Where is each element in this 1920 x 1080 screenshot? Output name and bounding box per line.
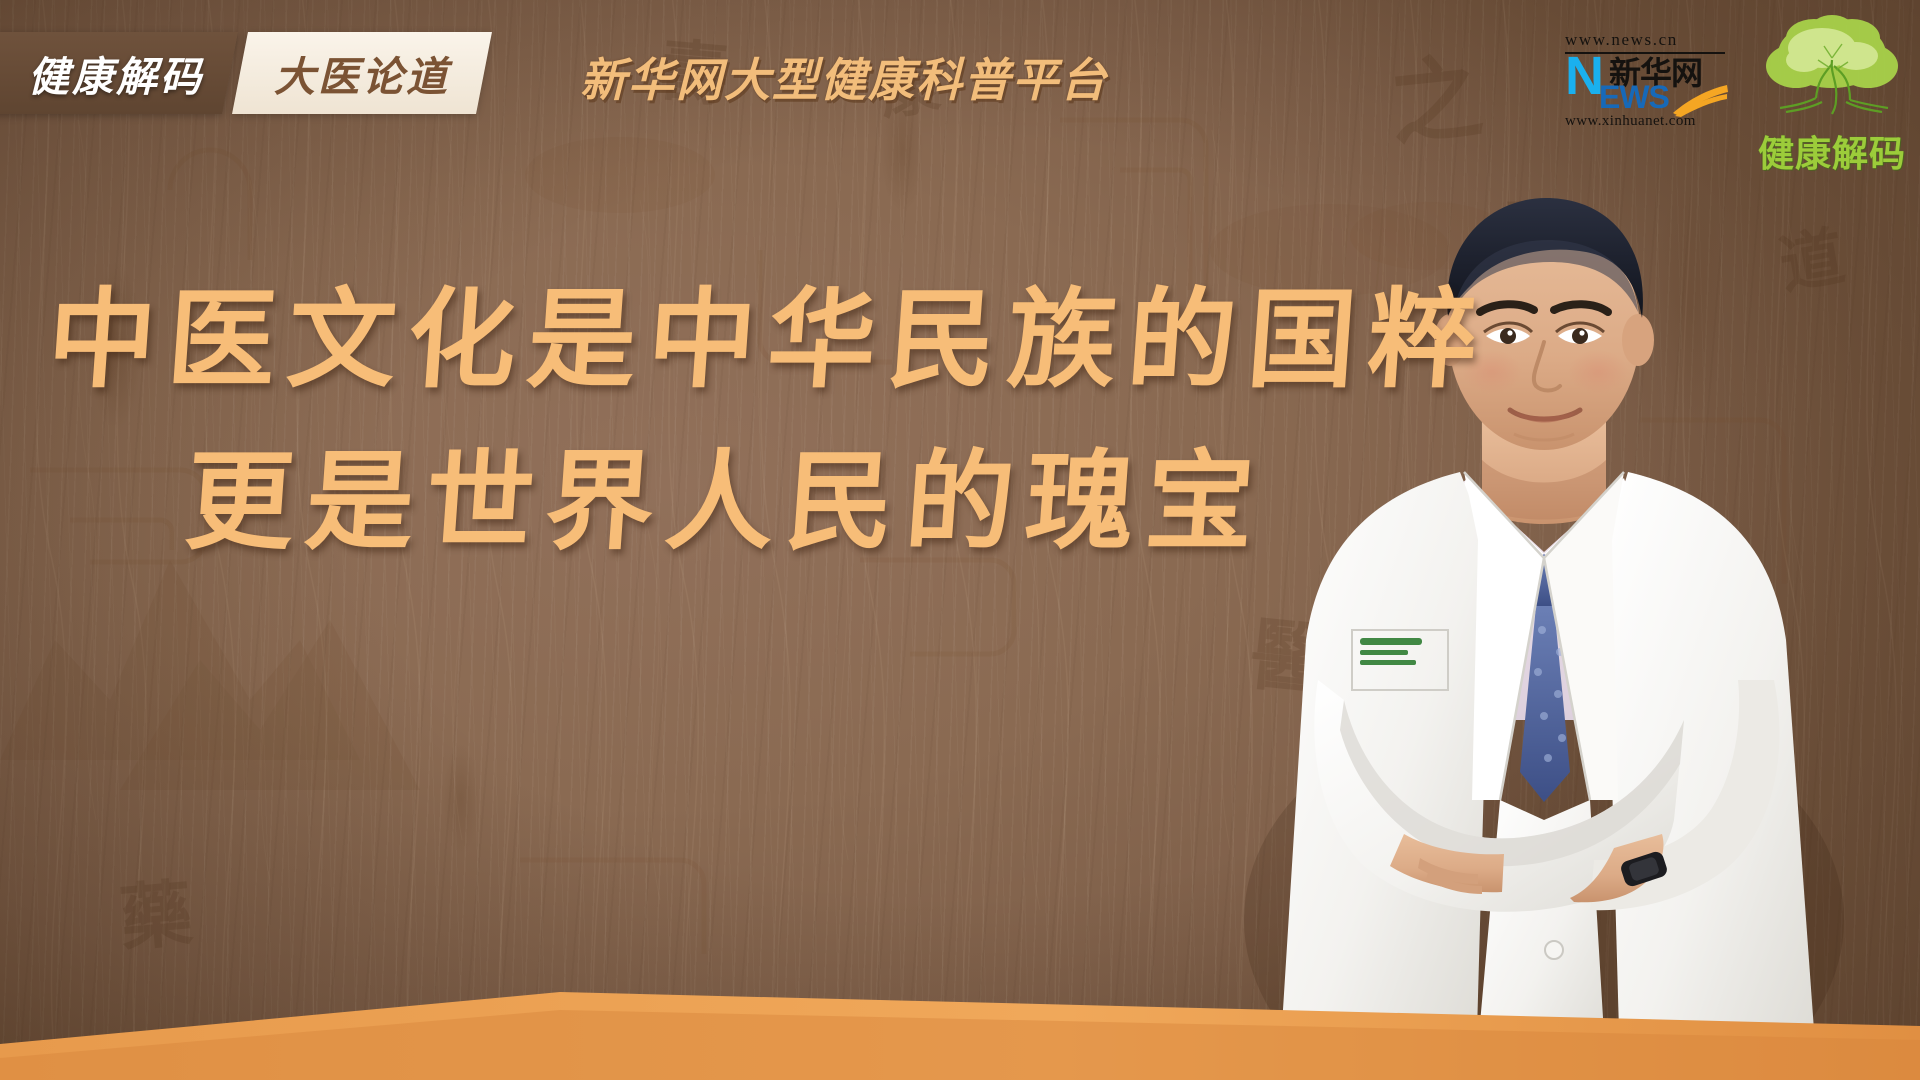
program-tag[interactable]: 健康解码 [0, 32, 238, 114]
column-tag-label: 大医论道 [274, 43, 450, 103]
column-tag[interactable]: 大医论道 [232, 32, 492, 114]
program-tag-label: 健康解码 [28, 43, 204, 103]
xinhua-ews-letters: EWS [1599, 81, 1669, 113]
title-line-2: 更是世界人民的瑰宝 [182, 448, 1184, 556]
tree-icon [1752, 8, 1912, 130]
bottom-accent-band [0, 940, 1920, 1080]
poster-canvas: 之 和 道 壽 康 醫 藥 健康解码 大医论道 新华网大型健康科普平台 www.… [0, 0, 1920, 1080]
swoosh-icon [1671, 83, 1729, 117]
platform-tagline: 新华网大型健康科普平台 [580, 44, 1108, 110]
health-decode-tree-logo[interactable]: 健康解码 [1752, 8, 1912, 177]
program-banner: 健康解码 大医论道 [0, 32, 484, 114]
title-line-1: 中医文化是中华民族的国粹 [44, 286, 1184, 394]
main-title: 中医文化是中华民族的国粹 更是世界人民的瑰宝 [0, 286, 1180, 556]
watermark-glyph: 之 [1385, 50, 1486, 151]
xinhua-wordmark: N 新华网 EWS [1565, 55, 1725, 97]
tree-logo-label: 健康解码 [1752, 125, 1912, 177]
xinhua-logo[interactable]: www.news.cn N 新华网 EWS www.xinhuanet.com [1565, 30, 1725, 130]
